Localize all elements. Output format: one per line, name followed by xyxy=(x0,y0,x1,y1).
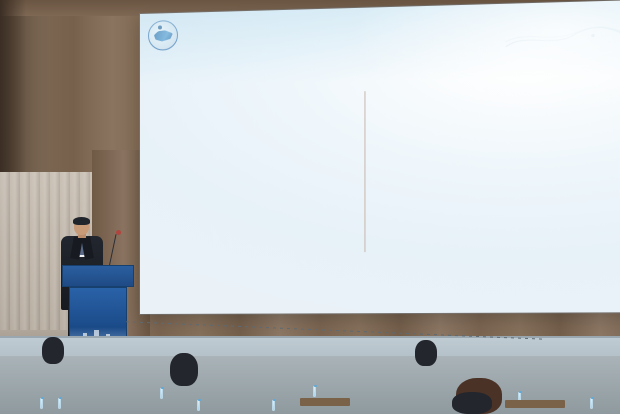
niohp-logo-icon xyxy=(148,20,178,51)
water-bottle xyxy=(272,400,275,411)
bar-chart xyxy=(146,75,620,272)
speaker-hair xyxy=(73,217,90,225)
microphone-icon xyxy=(116,230,121,235)
water-bottle xyxy=(197,400,200,411)
water-bottle xyxy=(313,386,316,397)
audience-side-table xyxy=(505,400,565,408)
slide-caption-cn xyxy=(140,298,620,300)
chart-x-axis-ticks xyxy=(364,252,620,270)
podium-top-sign xyxy=(62,265,134,287)
water-bottle xyxy=(590,398,593,409)
water-bottle xyxy=(160,388,163,399)
water-bottle xyxy=(58,398,61,409)
audience-attendee-head xyxy=(415,340,437,366)
audience-attendee-head xyxy=(170,353,198,386)
chart-plot-area xyxy=(146,86,620,254)
audience-side-table xyxy=(300,398,350,406)
audience-attendee-head xyxy=(452,392,492,414)
decorative-wave-icon xyxy=(504,25,620,51)
audience-attendee-head xyxy=(42,337,64,364)
water-bottle xyxy=(40,398,43,409)
projection-screen-slide xyxy=(140,0,620,314)
conference-hall-scene xyxy=(0,0,620,414)
chart-y-axis-line xyxy=(364,86,620,253)
